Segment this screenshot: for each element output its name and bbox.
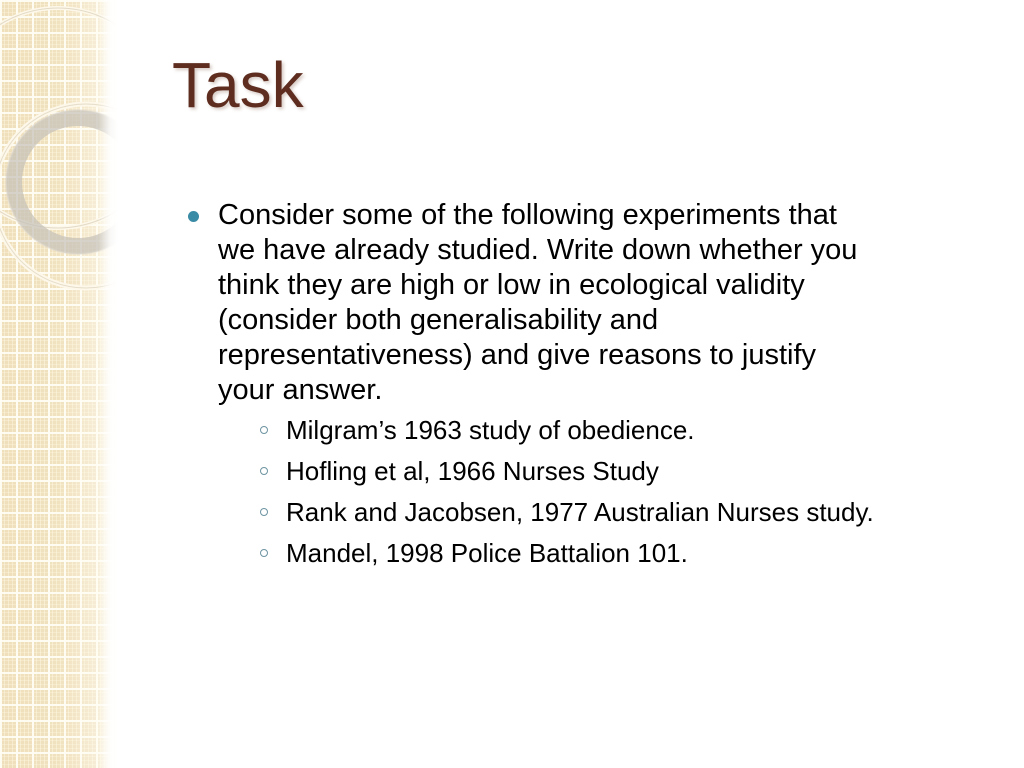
bullet-list-level2: Milgram’s 1963 study of obedience. Hofli…	[218, 414, 878, 569]
slide-body: Consider some of the following experimen…	[178, 198, 878, 578]
sub-bullet-text: Milgram’s 1963 study of obedience.	[286, 414, 878, 446]
presentation-slide: Task Consider some of the following expe…	[0, 0, 1024, 768]
hollow-circle-bullet-icon	[260, 508, 268, 516]
bullet-text-main: Consider some of the following experimen…	[218, 198, 878, 408]
hollow-circle-bullet-icon	[260, 426, 268, 434]
sub-bullet-text: Rank and Jacobsen, 1977 Australian Nurse…	[286, 496, 878, 528]
sub-bullet-item: Hofling et al, 1966 Nurses Study	[218, 455, 878, 487]
slide-decorative-side-band	[0, 0, 118, 768]
hollow-circle-bullet-icon	[260, 549, 268, 557]
sub-bullet-text: Hofling et al, 1966 Nurses Study	[286, 455, 878, 487]
bullet-list-level1: Consider some of the following experimen…	[178, 198, 878, 569]
sub-bullet-item: Mandel, 1998 Police Battalion 101.	[218, 537, 878, 569]
slide-title: Task	[172, 52, 304, 119]
band-right-fade	[98, 0, 118, 768]
sub-bullet-item: Rank and Jacobsen, 1977 Australian Nurse…	[218, 496, 878, 528]
filled-circle-bullet-icon	[188, 211, 199, 222]
sub-bullet-item: Milgram’s 1963 study of obedience.	[218, 414, 878, 446]
sub-bullet-text: Mandel, 1998 Police Battalion 101.	[286, 537, 878, 569]
bullet-item-main: Consider some of the following experimen…	[178, 198, 878, 569]
hollow-circle-bullet-icon	[260, 467, 268, 475]
